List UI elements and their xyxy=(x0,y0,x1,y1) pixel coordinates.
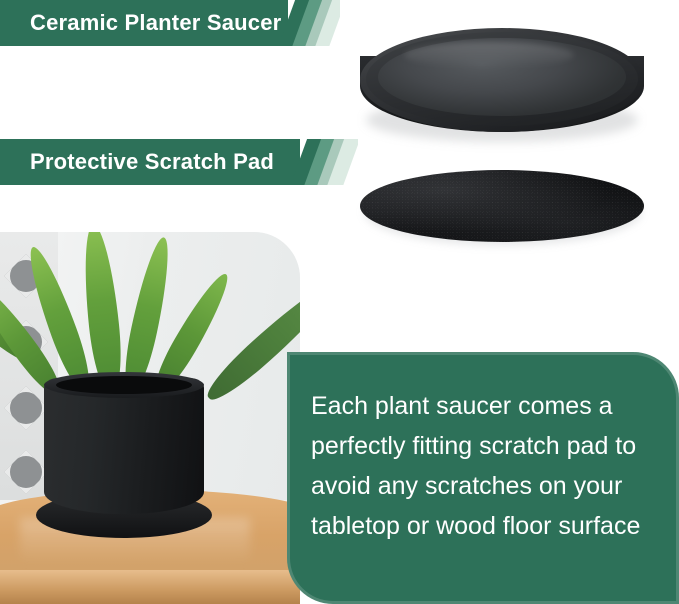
banner-protective-scratch-pad: Protective Scratch Pad xyxy=(0,139,358,185)
banner-label-ceramic-planter-saucer: Ceramic Planter Saucer xyxy=(30,0,281,46)
pad-felt-texture xyxy=(360,170,644,242)
description-line: avoid any scratches on your xyxy=(311,466,659,506)
description-line: Each plant saucer comes a xyxy=(311,386,659,426)
description-card: Each plant saucer comes a perfectly fitt… xyxy=(287,352,679,604)
product-image-ceramic-saucer xyxy=(352,12,652,148)
wood-table-edge xyxy=(0,570,300,604)
description-line: perfectly fitting scratch pad to xyxy=(311,426,659,466)
banner-label-protective-scratch-pad: Protective Scratch Pad xyxy=(30,139,274,185)
product-infographic: Ceramic Planter Saucer Protective Scratc… xyxy=(0,0,679,604)
lattice-motif xyxy=(4,386,48,430)
black-ceramic-pot xyxy=(44,378,204,514)
product-image-scratch-pad xyxy=(352,162,652,254)
pad-body xyxy=(360,170,644,242)
lattice-motif xyxy=(4,450,48,494)
saucer-highlight xyxy=(404,42,574,68)
description-line: tabletop or wood floor surface xyxy=(311,506,659,546)
banner-ceramic-planter-saucer: Ceramic Planter Saucer xyxy=(0,0,340,46)
lifestyle-image-plant-on-table xyxy=(0,232,300,604)
pot-opening xyxy=(56,376,192,394)
